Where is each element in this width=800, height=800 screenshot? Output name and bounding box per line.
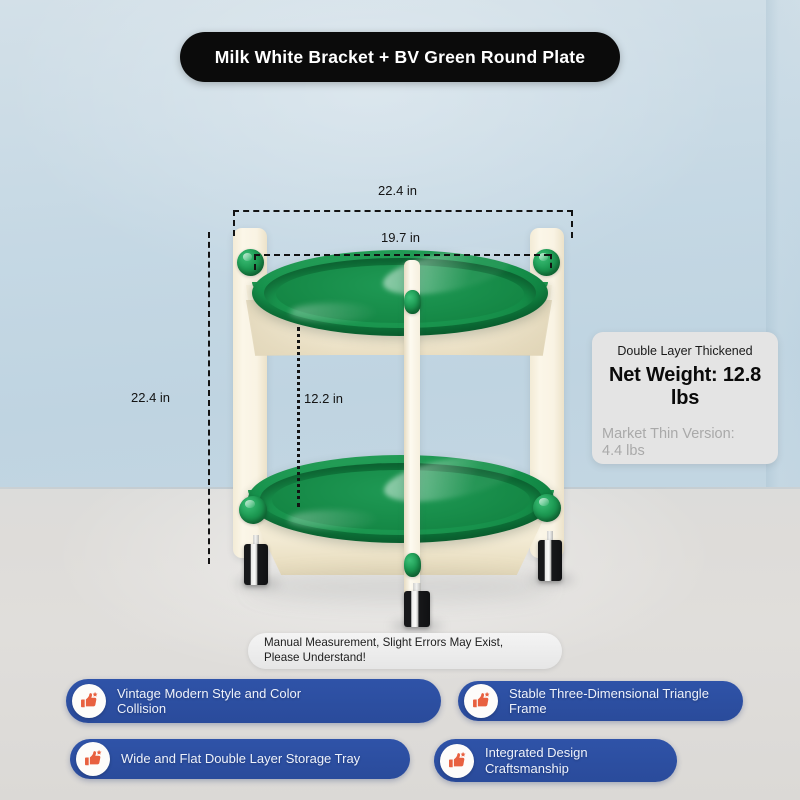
feature-pill-2-text: Stable Three-Dimensional Triangle Frame [509,686,733,717]
weight-card-comparison-line2: 4.4 lbs [602,443,768,460]
disclaimer-line1: Manual Measurement, Slight Errors May Ex… [264,636,503,649]
feature-pill-3: Wide and Flat Double Layer Storage Tray [70,739,410,779]
green-tray-top [252,250,548,336]
feature-4-line2: Craftsmanship [485,761,569,776]
dimension-tick-diameter-left [254,254,256,270]
green-knob-bottom-left [239,496,267,524]
caster-wheel-right [538,531,562,581]
dimension-label-tray-diameter: 19.7 in [381,230,420,245]
net-weight-card: Double Layer Thickened Net Weight: 12.8 … [592,332,778,464]
thumbs-up-star-icon [72,684,106,718]
green-knob-center-top [404,290,421,314]
knob-highlight [245,500,255,508]
feature-pill-4-text: Integrated Design Craftsmanship [485,745,588,776]
weight-card-subtitle: Double Layer Thickened [602,344,768,358]
dimension-line-tier-gap [297,327,300,507]
thumbs-up-star-icon [440,744,474,778]
feature-pill-1-text: Vintage Modern Style and Color Collision [117,686,301,717]
dimension-label-tier-gap: 12.2 in [304,391,343,406]
measurement-disclaimer-text: Manual Measurement, Slight Errors May Ex… [264,636,503,666]
dimension-tick-width-right [571,210,573,238]
weight-card-net-weight: Net Weight: 12.8 lbs [602,364,768,410]
caster-wheel-front [404,583,430,627]
thumbs-up-star-icon [76,742,110,776]
feature-1-line1: Vintage Modern Style and Color [117,686,301,701]
feature-pill-1: Vintage Modern Style and Color Collision [66,679,441,723]
feature-pill-2: Stable Three-Dimensional Triangle Frame [458,681,743,721]
caster-tread [404,591,430,627]
product-contact-shadow [250,572,550,602]
dimension-label-overall-width: 22.4 in [378,183,417,198]
knob-highlight [539,498,549,506]
weight-card-comparison-line1: Market Thin Version: [602,426,768,443]
caster-tread [244,544,268,585]
feature-1-line2: Collision [117,701,166,716]
thumbs-up-star-icon [464,684,498,718]
knob-highlight [243,253,252,261]
feature-pill-3-text: Wide and Flat Double Layer Storage Tray [121,751,360,766]
measurement-disclaimer-pill: Manual Measurement, Slight Errors May Ex… [248,633,562,669]
green-tray-bottom [248,455,554,543]
dimension-line-overall-width [233,210,573,212]
disclaimer-line2: Please Understand! [264,651,366,664]
feature-4-line1: Integrated Design [485,745,588,760]
tray-gloss-highlight-secondary [288,510,380,529]
title-banner: Milk White Bracket + BV Green Round Plat… [180,32,620,82]
product-image-canvas: 22.4 in 19.7 in 22.4 in 12.2 in Milk Whi… [0,0,800,800]
dimension-label-overall-height: 22.4 in [131,390,170,405]
caster-wheel-left [244,535,268,585]
weight-card-comparison: Market Thin Version: 4.4 lbs [602,426,768,460]
dimension-tick-width-left [233,210,235,236]
green-knob-center-bottom [404,553,421,577]
dimension-line-tray-diameter [254,254,550,256]
green-knob-bottom-right [533,494,561,522]
feature-pill-4: Integrated Design Craftsmanship [434,739,677,782]
dimension-line-overall-height [208,232,210,564]
title-banner-text: Milk White Bracket + BV Green Round Plat… [215,47,585,68]
dimension-tick-diameter-right [550,254,552,268]
caster-tread [538,540,562,581]
